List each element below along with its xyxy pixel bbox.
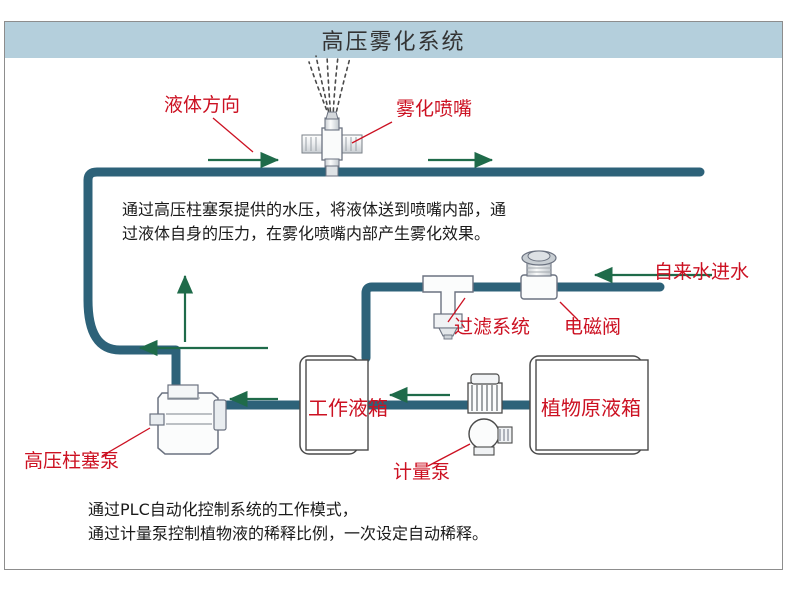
label-filtration-system: 过滤系统 — [454, 318, 530, 337]
title-bar: 高压雾化系统 — [5, 22, 782, 58]
label-liquid-direction: 液体方向 — [164, 96, 240, 115]
paragraph-top: 通过高压柱塞泵提供的水压，将液体送到喷嘴内部，通 过液体自身的压力，在雾化喷嘴内… — [122, 198, 642, 246]
diagram-frame: 高压雾化系统 — [4, 21, 783, 570]
label-tap-water-inlet: 自来水进水 — [654, 263, 749, 282]
page-title: 高压雾化系统 — [321, 24, 465, 56]
label-atomizing-nozzle: 雾化喷嘴 — [396, 100, 472, 119]
label-plant-stock-tank: 植物原液箱 — [541, 392, 641, 421]
label-solenoid-valve: 电磁阀 — [564, 318, 621, 337]
label-high-pressure-plunger-pump: 高压柱塞泵 — [24, 452, 119, 471]
label-metering-pump: 计量泵 — [393, 463, 450, 482]
paragraph-bottom: 通过PLC自动化控制系统的工作模式， 通过计量泵控制植物液的稀释比例，一次设定自… — [88, 498, 648, 546]
label-working-tank: 工作液箱 — [308, 392, 388, 421]
